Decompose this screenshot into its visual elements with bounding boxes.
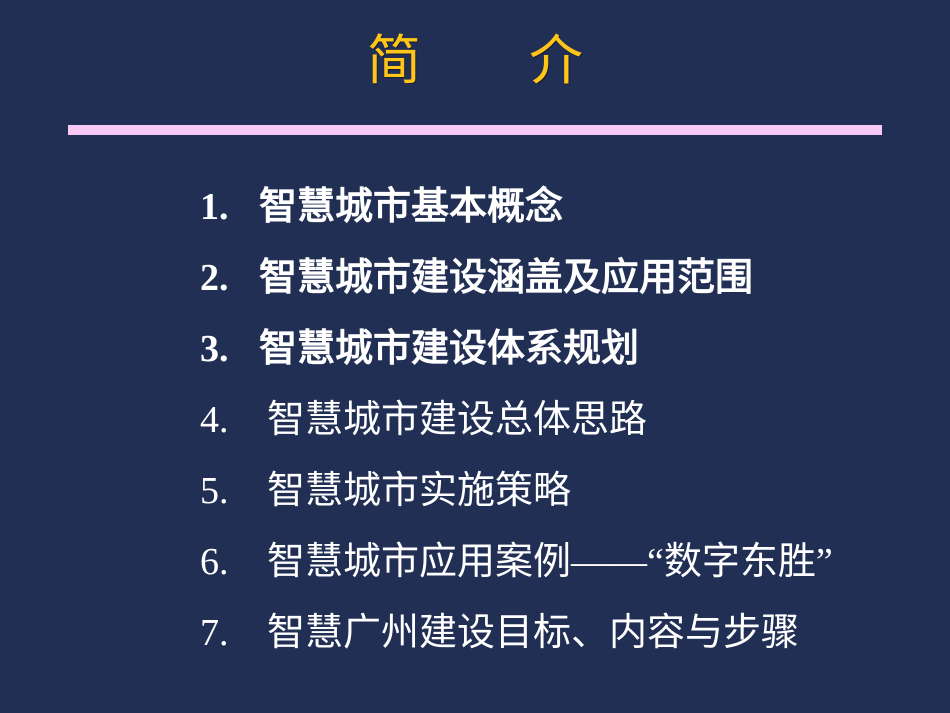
list-item: 1.智慧城市基本概念 xyxy=(0,172,950,243)
list-item-label: 智慧城市实施策略 xyxy=(267,470,571,512)
list-item-number: 1. xyxy=(200,172,259,243)
list-item-label: 智慧城市建设体系规划 xyxy=(259,328,639,370)
list-item: 5.智慧城市实施策略 xyxy=(0,456,950,527)
list-item-label: 智慧城市基本概念 xyxy=(259,186,563,228)
list-item-number: 5. xyxy=(200,456,267,527)
list-item-label: 智慧广州建设目标、内容与步骤 xyxy=(267,612,799,654)
list-item: 7.智慧广州建设目标、内容与步骤 xyxy=(0,598,950,669)
list-item: 3.智慧城市建设体系规划 xyxy=(0,314,950,385)
list-item-number: 3. xyxy=(200,314,259,385)
page-title: 简 介 xyxy=(0,28,950,94)
list-item-number: 2. xyxy=(200,243,259,314)
list-item: 2.智慧城市建设涵盖及应用范围 xyxy=(0,243,950,314)
list-item: 6.智慧城市应用案例——“数字东胜” xyxy=(0,527,950,598)
presentation-slide: 简 介 1.智慧城市基本概念 2.智慧城市建设涵盖及应用范围 3.智慧城市建设体… xyxy=(0,0,950,713)
list-item-label: 智慧城市建设总体思路 xyxy=(267,399,647,441)
title-divider xyxy=(68,125,882,135)
outline-list: 1.智慧城市基本概念 2.智慧城市建设涵盖及应用范围 3.智慧城市建设体系规划 … xyxy=(0,172,950,669)
list-item-label: 智慧城市应用案例——“数字东胜” xyxy=(267,541,833,583)
list-item-number: 6. xyxy=(200,527,267,598)
list-item: 4.智慧城市建设总体思路 xyxy=(0,385,950,456)
list-item-label: 智慧城市建设涵盖及应用范围 xyxy=(259,257,753,299)
list-item-number: 4. xyxy=(200,385,267,456)
list-item-number: 7. xyxy=(200,598,267,669)
